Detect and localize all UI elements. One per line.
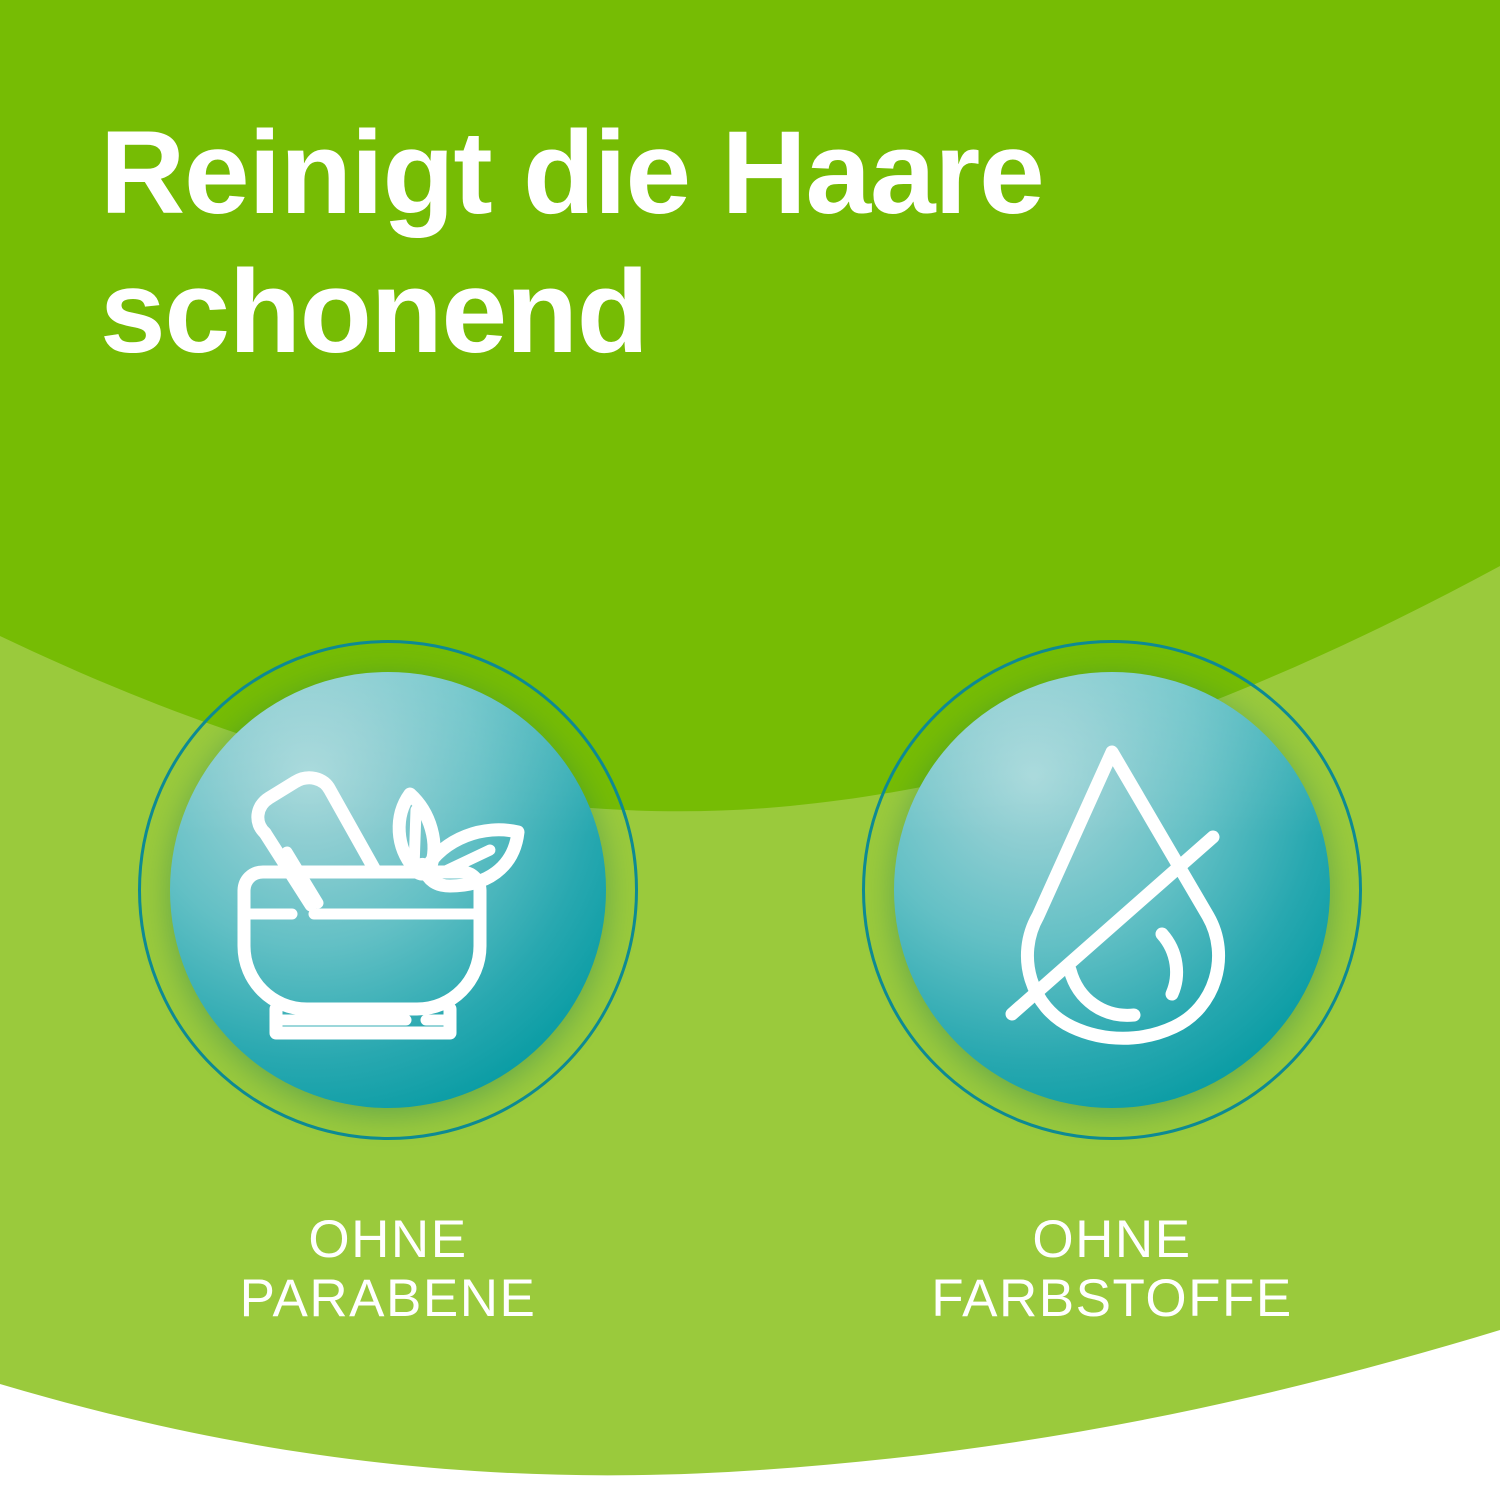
badge-ohne-farbstoffe: OHNE FARBSTOFFE (852, 610, 1372, 1150)
page-title: Reinigt die Haare schonend (100, 104, 1280, 382)
badge-caption-ohne-farbstoffe: OHNE FARBSTOFFE (852, 1210, 1372, 1329)
promo-banner: Reinigt die Haare schonend (0, 0, 1500, 1500)
badge-caption-ohne-parabene: OHNE PARABENE (128, 1210, 648, 1329)
badge-disc (894, 672, 1330, 1108)
badge-disc (170, 672, 606, 1108)
badge-ohne-parabene: OHNE PARABENE (128, 610, 648, 1150)
badge-circle-wrapper (852, 610, 1372, 1150)
badge-circle-wrapper (128, 610, 648, 1150)
